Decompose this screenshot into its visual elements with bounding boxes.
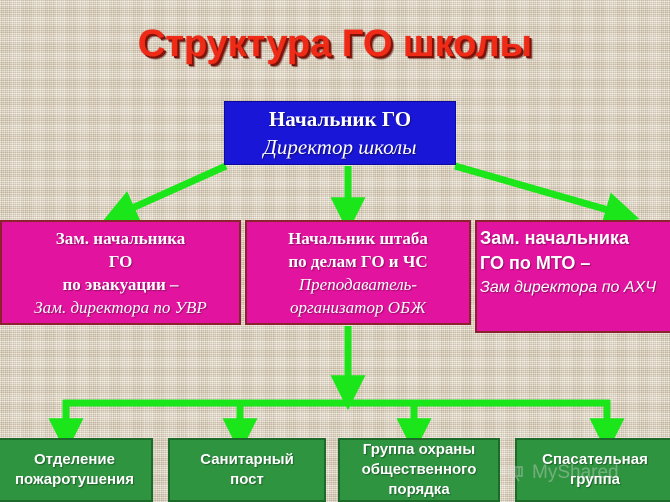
node-sanitary-post[interactable]: Санитарный пост xyxy=(168,438,326,502)
node-head-of-civil-defense[interactable]: Начальник ГО Директор школы xyxy=(224,101,456,165)
node-subtitle-line: Зам. директора по УВР xyxy=(4,296,237,319)
page-title: Структура ГО школы xyxy=(0,22,670,66)
node-title-line-2: ГО xyxy=(4,250,237,273)
node-rescue-group[interactable]: Спасательная группа xyxy=(515,438,670,502)
node-fire-fighting-unit[interactable]: Отделение пожаротушения xyxy=(0,438,153,502)
node-subtitle-line: Зам директора по АХЧ xyxy=(478,276,670,300)
node-subtitle-line: Директор школы xyxy=(229,133,451,161)
node-chief-of-staff[interactable]: Начальник штаба по делам ГО и ЧС Препода… xyxy=(245,220,471,325)
node-subtitle-line-2: организатор ОБЖ xyxy=(249,296,467,319)
node-title-line-2: группа xyxy=(520,470,670,490)
node-title-line: Санитарный xyxy=(173,450,321,470)
arrow-head-to-deputy-logistics xyxy=(455,166,622,214)
node-title-line-2: пожаротушения xyxy=(1,470,148,490)
node-title-line-3: порядка xyxy=(343,480,495,500)
node-title-line-2: общественного xyxy=(343,460,495,480)
node-title-line-2: по делам ГО и ЧС xyxy=(249,250,467,273)
node-title-line: Отделение xyxy=(1,450,148,470)
node-title-line-3: по эвакуации – xyxy=(4,273,237,296)
arrow-head-to-deputy-evacuation xyxy=(119,166,226,214)
node-title-line: Группа охраны xyxy=(343,440,495,460)
node-title-line: Зам. начальника xyxy=(478,226,670,251)
node-title-line: Зам. начальника xyxy=(4,227,237,250)
node-deputy-evacuation[interactable]: Зам. начальника ГО по эвакуации – Зам. д… xyxy=(0,220,241,325)
node-subtitle-line: Преподаватель- xyxy=(249,273,467,296)
node-title-line: Спасательная xyxy=(520,450,670,470)
node-title-line-2: пост xyxy=(173,470,321,490)
node-public-order-group[interactable]: Группа охраны общественного порядка xyxy=(338,438,500,502)
node-title-line-2: ГО по МТО – xyxy=(478,251,670,276)
slide-canvas: Структура ГО школы Начальник ГО Директор… xyxy=(0,0,670,502)
node-deputy-logistics[interactable]: Зам. начальника ГО по МТО – Зам директор… xyxy=(475,220,670,333)
node-title-line: Начальник штаба xyxy=(249,227,467,250)
node-title-line: Начальник ГО xyxy=(229,105,451,133)
